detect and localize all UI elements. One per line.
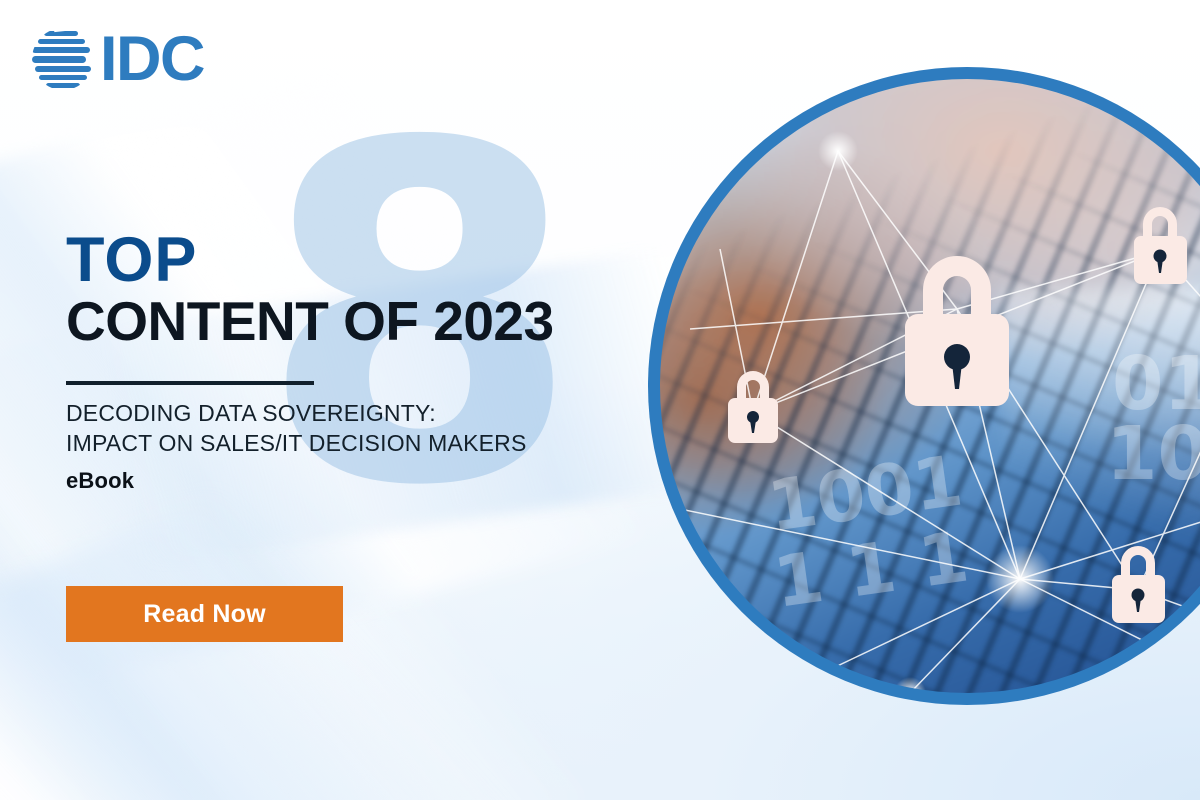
subtitle-block: DECODING DATA SOVEREIGNTY: IMPACT ON SAL… (66, 398, 527, 494)
padlock-small-bottom-right (1112, 546, 1165, 623)
headline-block: TOP CONTENT OF 2023 (66, 232, 554, 349)
headline-divider (66, 381, 314, 385)
content-type-label: eBook (66, 468, 527, 494)
network-overlay (660, 79, 1200, 693)
headline-line-main: CONTENT OF 2023 (66, 294, 554, 349)
promo-banner: 8 IDC TOP CONTENT OF 2023 (0, 0, 1200, 800)
padlock-small-top-right (1134, 207, 1187, 284)
idc-logo[interactable]: IDC (30, 26, 204, 92)
subtitle-line-1: DECODING DATA SOVEREIGNTY: (66, 398, 527, 428)
padlock-large (905, 256, 1009, 406)
striped-globe-icon (30, 26, 96, 92)
subtitle-line-2: IMPACT ON SALES/IT DECISION MAKERS (66, 428, 527, 458)
circle-image-area: 0100 1000 1001 1 1 1 (660, 79, 1200, 693)
read-now-button-label: Read Now (143, 602, 265, 627)
idc-logo-text: IDC (100, 28, 204, 91)
padlock-small-left (728, 371, 778, 443)
hero-image-circle: 0100 1000 1001 1 1 1 (648, 67, 1200, 705)
read-now-button[interactable]: Read Now (66, 586, 343, 642)
headline-line-top: TOP (66, 232, 554, 290)
